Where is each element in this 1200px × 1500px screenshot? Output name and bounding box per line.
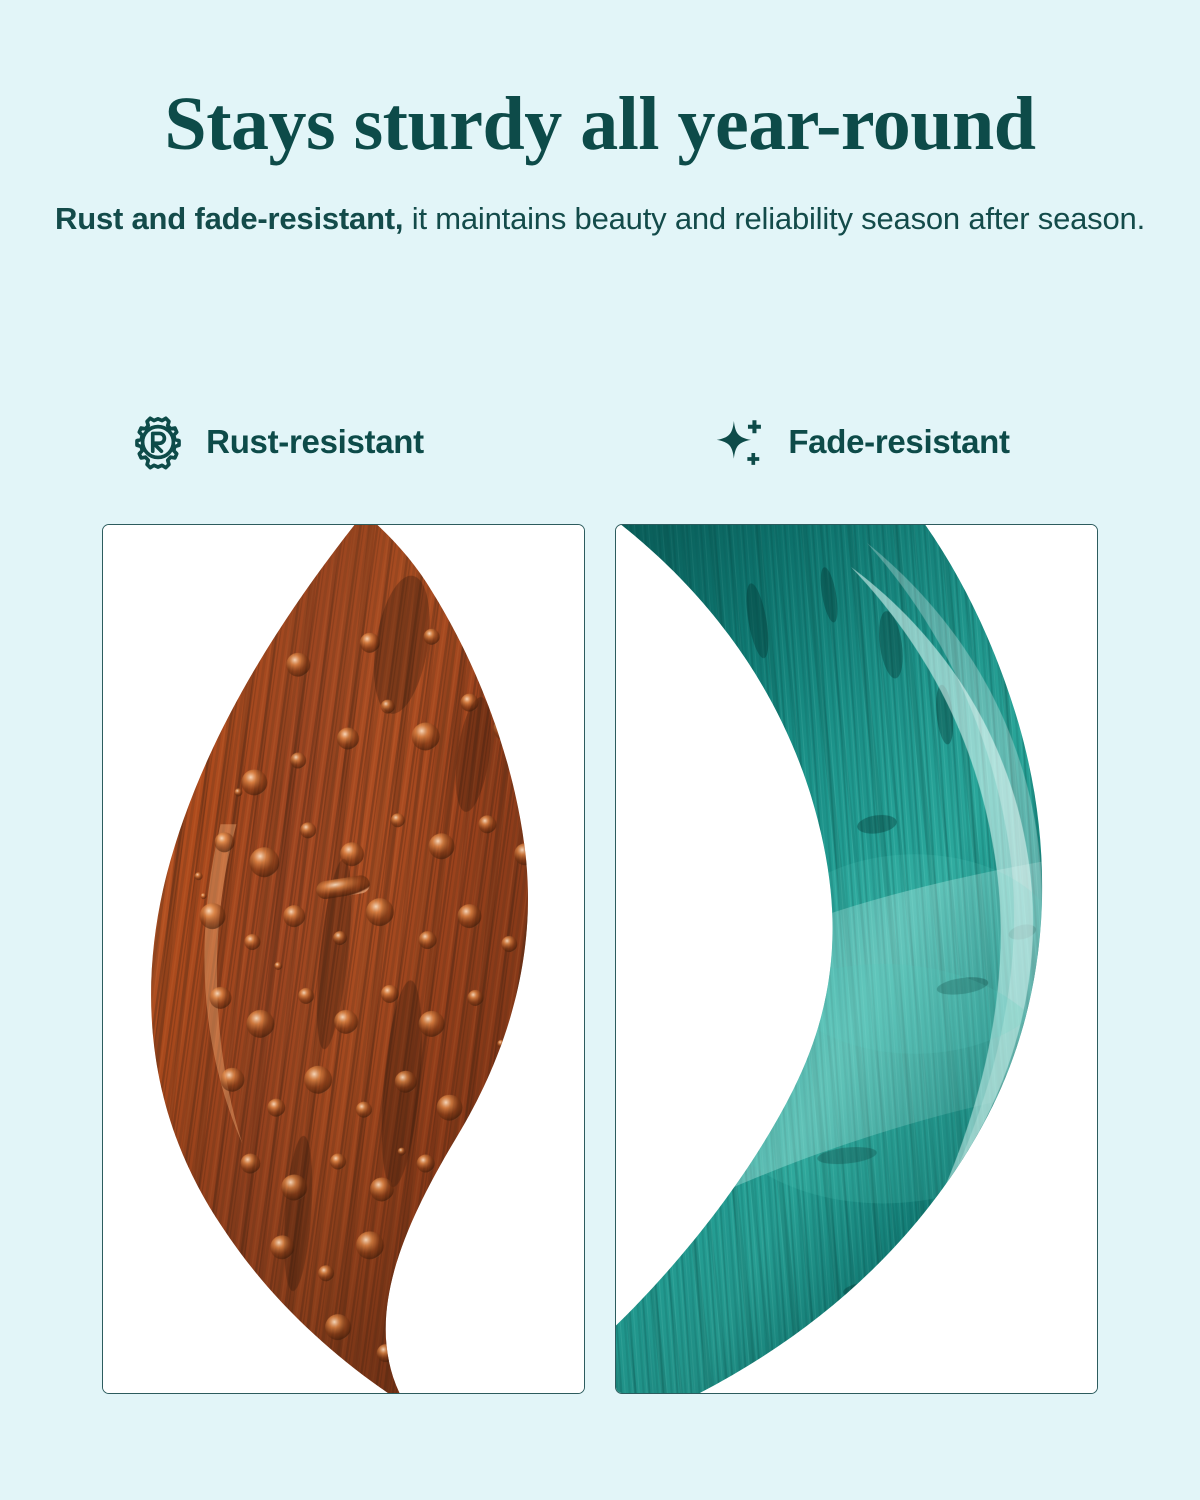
feature-label-fade-resistant: Fade-resistant [788,423,1009,461]
feature-row: Rust-resistant Fade-resistant [0,414,1200,470]
page-title: Stays sturdy all year-round [0,86,1200,162]
header: Stays sturdy all year-round Rust and fad… [0,0,1200,239]
sparkle-icon [712,414,768,470]
feature-label-rust-resistant: Rust-resistant [206,423,424,461]
fade-resistant-photo [616,525,1097,1393]
subtitle-rest: it maintains beauty and reliability seas… [403,201,1145,236]
photo-panel-row [102,524,1098,1394]
panel-fade-resistant [615,524,1098,1394]
subtitle-bold-lead: Rust and fade-resistant, [55,201,403,236]
feature-fade-resistant: Fade-resistant [600,414,1200,470]
gear-r-icon [130,414,186,470]
rust-resistant-photo [103,525,584,1393]
feature-rust-resistant: Rust-resistant [0,414,600,470]
promo-page: Stays sturdy all year-round Rust and fad… [0,0,1200,1500]
subtitle: Rust and fade-resistant, it maintains be… [0,162,1200,239]
panel-rust-resistant [102,524,585,1394]
